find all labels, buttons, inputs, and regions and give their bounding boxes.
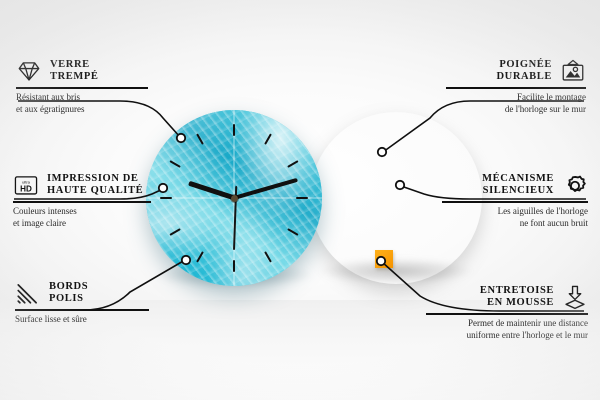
feature-desc: Les aiguilles de l'horloge ne font aucun… xyxy=(442,206,588,229)
picture-hanger-icon xyxy=(560,58,586,84)
feature-title: ENTRETOISE EN MOUSSE xyxy=(480,285,554,310)
feature-desc: Couleurs intenses et image claire xyxy=(13,206,151,229)
feature-header: BORDS POLIS xyxy=(15,280,149,306)
foam-spacer xyxy=(375,250,393,268)
feature-poignee-durable: POIGNÉE DURABLE Facilite le montage de l… xyxy=(446,58,586,115)
feature-title: IMPRESSION DE HAUTE QUALITÉ xyxy=(47,173,143,198)
feature-rule xyxy=(16,87,148,89)
feature-header: VERRE TREMPÉ xyxy=(16,58,148,84)
feature-rule xyxy=(426,313,588,315)
feature-impression-haute-qualite: ultra HD IMPRESSION DE HAUTE QUALITÉ Cou… xyxy=(13,172,151,229)
feature-desc: Résistant aux bris et aux égratignures xyxy=(16,92,148,115)
polished-edges-icon xyxy=(15,280,41,306)
ultra-hd-small-label: ultra xyxy=(22,179,31,184)
feature-entretoise-en-mousse: ENTRETOISE EN MOUSSE Permet de maintenir… xyxy=(426,284,588,341)
feature-rule xyxy=(442,201,588,203)
feature-header: ENTRETOISE EN MOUSSE xyxy=(426,284,588,310)
feature-title: POIGNÉE DURABLE xyxy=(496,59,552,84)
infographic-stage: VERRE TREMPÉ Résistant aux bris et aux é… xyxy=(0,0,600,400)
feature-title: BORDS POLIS xyxy=(49,281,88,306)
feature-rule xyxy=(446,87,586,89)
hands-center-cap xyxy=(231,195,238,202)
feature-title: MÉCANISME SILENCIEUX xyxy=(482,173,554,198)
feature-bords-polis: BORDS POLIS Surface lisse et sûre xyxy=(15,280,149,326)
foam-spacer-icon xyxy=(562,284,588,310)
feature-mecanisme-silencieux: MÉCANISME SILENCIEUX Les aiguilles de l'… xyxy=(442,172,588,229)
ultra-hd-icon: ultra HD xyxy=(13,172,39,198)
feature-header: POIGNÉE DURABLE xyxy=(446,58,586,84)
feature-verre-trempe: VERRE TREMPÉ Résistant aux bris et aux é… xyxy=(16,58,148,115)
clock-front-face xyxy=(146,110,322,286)
diamond-icon xyxy=(16,58,42,84)
feature-desc: Permet de maintenir une distance uniform… xyxy=(426,318,588,341)
feature-rule xyxy=(15,309,149,311)
feature-rule xyxy=(13,201,151,203)
feature-header: ultra HD IMPRESSION DE HAUTE QUALITÉ xyxy=(13,172,151,198)
feature-header: MÉCANISME SILENCIEUX xyxy=(442,172,588,198)
gear-icon xyxy=(562,172,588,198)
feature-title: VERRE TREMPÉ xyxy=(50,59,99,84)
ultra-hd-big-label: HD xyxy=(20,185,32,194)
feature-desc: Facilite le montage de l'horloge sur le … xyxy=(446,92,586,115)
feature-desc: Surface lisse et sûre xyxy=(15,314,149,326)
